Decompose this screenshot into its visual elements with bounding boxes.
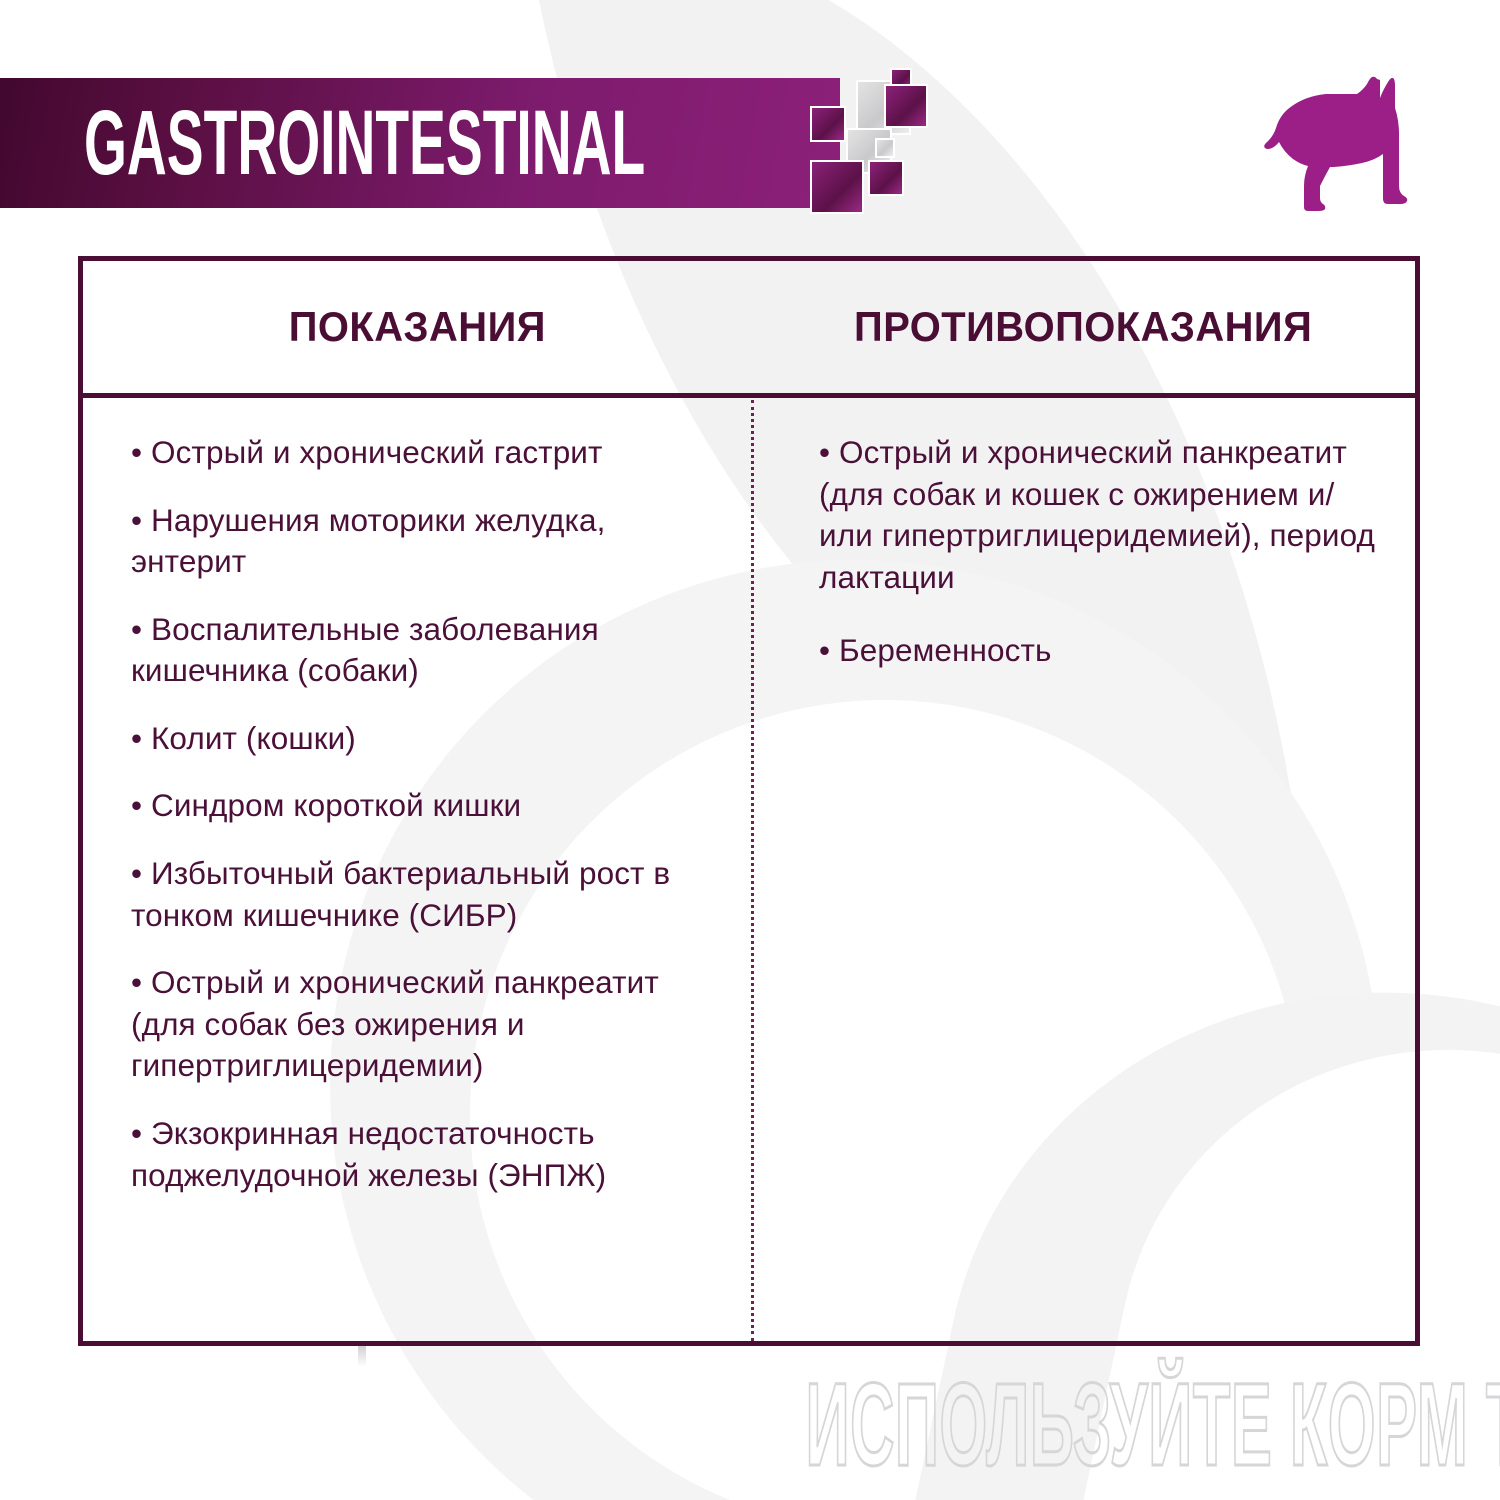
decorative-squares-cluster bbox=[790, 60, 970, 235]
decorative-square-purple-1 bbox=[810, 106, 846, 142]
table-body-row: • Острый и хронический гастрит • Нарушен… bbox=[83, 398, 1415, 1341]
footer-watermark-text: ИСПОЛЬЗУЙТЕ КОРМ ТОЛЬКО ПО НАЗНАЧЕНИЮ ВР… bbox=[805, 1366, 1500, 1484]
table-header-cell-indications: ПОКАЗАНИЯ bbox=[83, 261, 751, 393]
list-item: • Избыточный бактериальный рост в тонком… bbox=[131, 853, 725, 936]
list-item: • Экзокринная недостаточность поджелудоч… bbox=[131, 1113, 725, 1196]
table-header-row: ПОКАЗАНИЯ ПРОТИВОПОКАЗАНИЯ bbox=[83, 261, 1415, 398]
column-divider-dotted bbox=[751, 400, 754, 1341]
decorative-square-purple-4 bbox=[868, 160, 904, 196]
list-item: • Воспалительные заболевания кишечника (… bbox=[131, 609, 725, 692]
indications-list: • Острый и хронический гастрит • Нарушен… bbox=[83, 398, 751, 1341]
list-item: • Беременность bbox=[819, 630, 1375, 672]
header-banner: GASTROINTESTINAL bbox=[0, 78, 840, 208]
contraindications-list: • Острый и хронический панкреатит (для с… bbox=[751, 398, 1415, 1341]
cat-silhouette-icon bbox=[1262, 68, 1422, 218]
indications-table: ПОКАЗАНИЯ ПРОТИВОПОКАЗАНИЯ • Острый и хр… bbox=[78, 256, 1420, 1346]
list-item: • Острый и хронический гастрит bbox=[131, 432, 725, 474]
list-item: • Острый и хронический панкреатит (для с… bbox=[131, 962, 725, 1087]
footer-watermark: ИСПОЛЬЗУЙТЕ КОРМ ТОЛЬКО ПО НАЗНАЧЕНИЮ ВР… bbox=[0, 1366, 1500, 1484]
column-header-indications: ПОКАЗАНИЯ bbox=[288, 303, 545, 351]
list-item: • Синдром короткой кишки bbox=[131, 785, 725, 827]
table-header-cell-contraindications: ПРОТИВОПОКАЗАНИЯ bbox=[751, 261, 1415, 393]
decorative-square-purple-3 bbox=[884, 84, 928, 128]
decorative-square-grey-3 bbox=[875, 138, 895, 158]
column-header-contraindications: ПРОТИВОПОКАЗАНИЯ bbox=[854, 303, 1312, 351]
list-item: • Колит (кошки) bbox=[131, 718, 725, 760]
banner-title: GASTROINTESTINAL bbox=[84, 97, 645, 189]
infographic-page: GASTROINTESTINAL ПОКАЗАНИЯ ПРОТИВОПОКАЗА… bbox=[0, 0, 1500, 1500]
decorative-square-purple-5 bbox=[810, 160, 864, 214]
list-item: • Острый и хронический панкреатит (для с… bbox=[819, 432, 1375, 598]
list-item: • Нарушения моторики желудка, энтерит bbox=[131, 500, 725, 583]
